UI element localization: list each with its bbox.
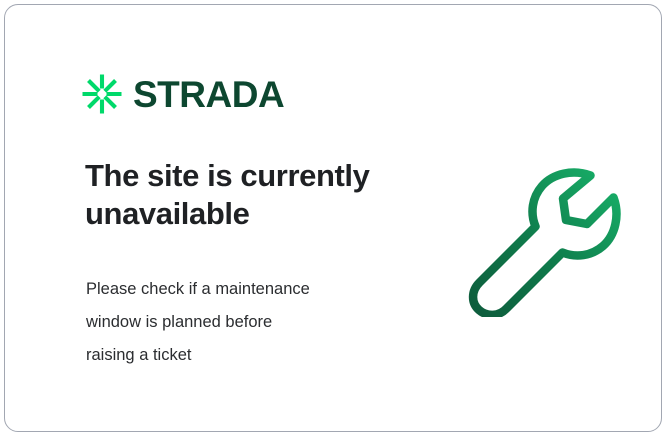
instruction-line: raising a ticket bbox=[86, 339, 396, 372]
strada-asterisk-icon bbox=[81, 73, 123, 115]
brand-lockup: STRADA bbox=[81, 73, 284, 115]
maintenance-status-card: STRADA The site is currently unavailable… bbox=[4, 4, 662, 432]
wrench-icon bbox=[457, 157, 622, 317]
instruction-line: window is planned before bbox=[86, 306, 396, 339]
maintenance-instructions: Please check if a maintenance window is … bbox=[86, 273, 396, 372]
instruction-line: Please check if a maintenance bbox=[86, 273, 396, 306]
page-title: The site is currently unavailable bbox=[85, 157, 415, 234]
brand-wordmark: STRADA bbox=[133, 76, 284, 113]
